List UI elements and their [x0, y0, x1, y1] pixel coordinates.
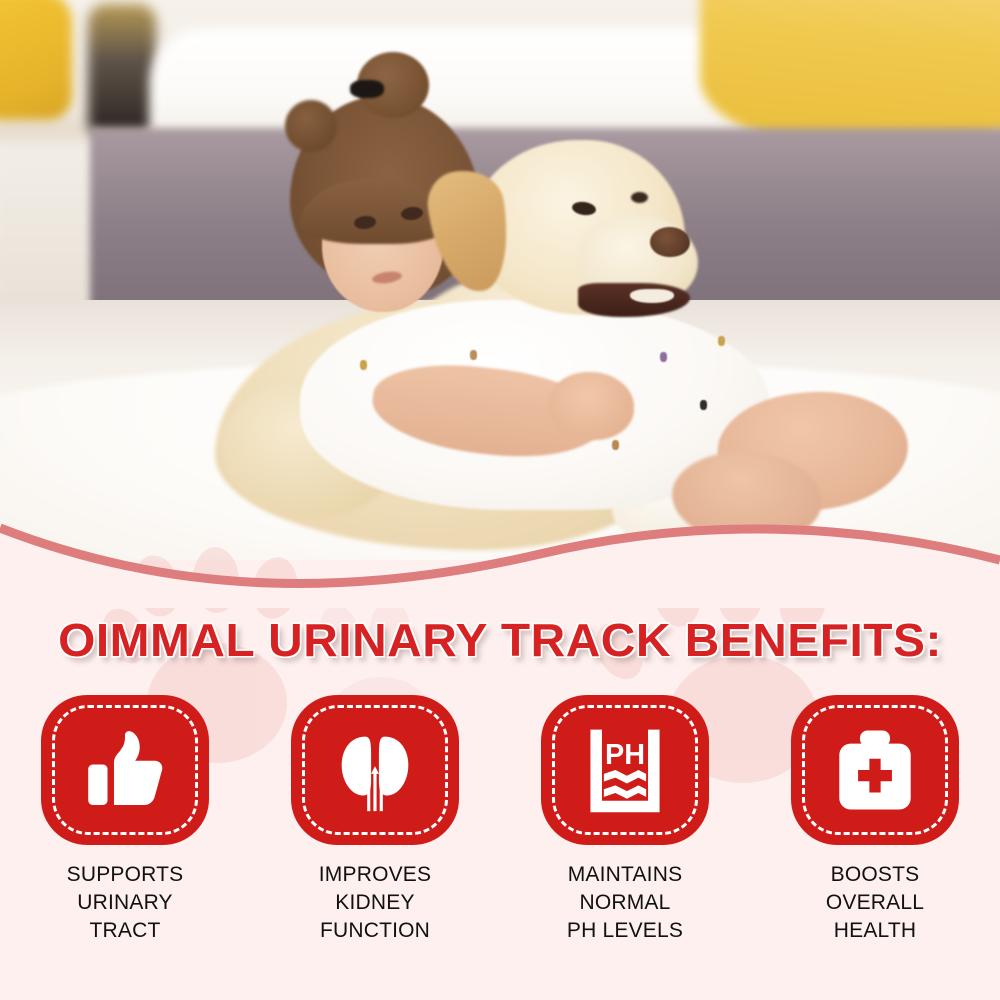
benefit-badge[interactable]: PH — [541, 695, 709, 845]
dog-eye — [631, 192, 648, 203]
caption-line: HEALTH — [826, 917, 924, 945]
shirt-speck — [660, 352, 667, 362]
shirt-speck — [718, 336, 725, 346]
yellow-cushion — [0, 0, 72, 120]
page-title: OIMMAL URINARY TRACK BENEFITS: — [0, 613, 1000, 667]
ph-icon-label: PH — [605, 739, 645, 771]
product-benefits-banner: OIMMAL URINARY TRACK BENEFITS: SUPPORTS … — [0, 0, 1000, 1000]
shirt-speck — [360, 360, 367, 370]
benefits-list: SUPPORTS URINARY TRACT — [0, 695, 1000, 945]
benefits-panel: OIMMAL URINARY TRACK BENEFITS: SUPPORTS … — [0, 545, 1000, 1000]
kidneys-icon — [326, 721, 424, 819]
benefit-item-improves-kidney-function[interactable]: IMPROVES KIDNEY FUNCTION — [268, 695, 483, 945]
ph-level-icon: PH — [577, 722, 673, 818]
hero-photo — [0, 0, 1000, 560]
caption-line: OVERALL — [826, 889, 924, 917]
shirt-speck — [700, 400, 707, 410]
caption-line: SUPPORTS — [67, 861, 184, 889]
benefit-item-supports-urinary-tract[interactable]: SUPPORTS URINARY TRACT — [18, 695, 233, 945]
caption-line: KIDNEY — [319, 889, 431, 917]
caption-line: PH LEVELS — [567, 917, 683, 945]
caption-line: IMPROVES — [319, 861, 431, 889]
caption-line: MAINTAINS — [567, 861, 683, 889]
benefit-caption: BOOSTS OVERALL HEALTH — [826, 861, 924, 945]
girl-side-bun — [285, 100, 337, 152]
benefit-caption: IMPROVES KIDNEY FUNCTION — [319, 861, 431, 945]
caption-line: TRACT — [67, 917, 184, 945]
benefit-caption: SUPPORTS URINARY TRACT — [67, 861, 184, 945]
benefit-badge[interactable] — [41, 695, 209, 845]
benefit-item-boosts-overall-health[interactable]: BOOSTS OVERALL HEALTH — [768, 695, 983, 945]
benefit-badge[interactable] — [791, 695, 959, 845]
girl-hand — [548, 372, 634, 440]
girl-hair-tie — [350, 80, 384, 98]
dog-teeth — [630, 289, 674, 303]
caption-line: FUNCTION — [319, 917, 431, 945]
benefit-item-maintains-normal-ph[interactable]: PH MAINTAINS NORMAL PH LEVELS — [518, 695, 733, 945]
thumbs-up-icon — [79, 724, 171, 816]
shirt-speck — [612, 440, 619, 450]
caption-line: NORMAL — [567, 889, 683, 917]
benefit-badge[interactable] — [291, 695, 459, 845]
benefit-caption: MAINTAINS NORMAL PH LEVELS — [567, 861, 683, 945]
caption-line: BOOSTS — [826, 861, 924, 889]
shelf-decor-object — [88, 4, 156, 132]
dog-nose — [650, 227, 690, 257]
caption-line: URINARY — [67, 889, 184, 917]
first-aid-kit-icon — [828, 723, 922, 817]
shirt-speck — [470, 350, 477, 360]
